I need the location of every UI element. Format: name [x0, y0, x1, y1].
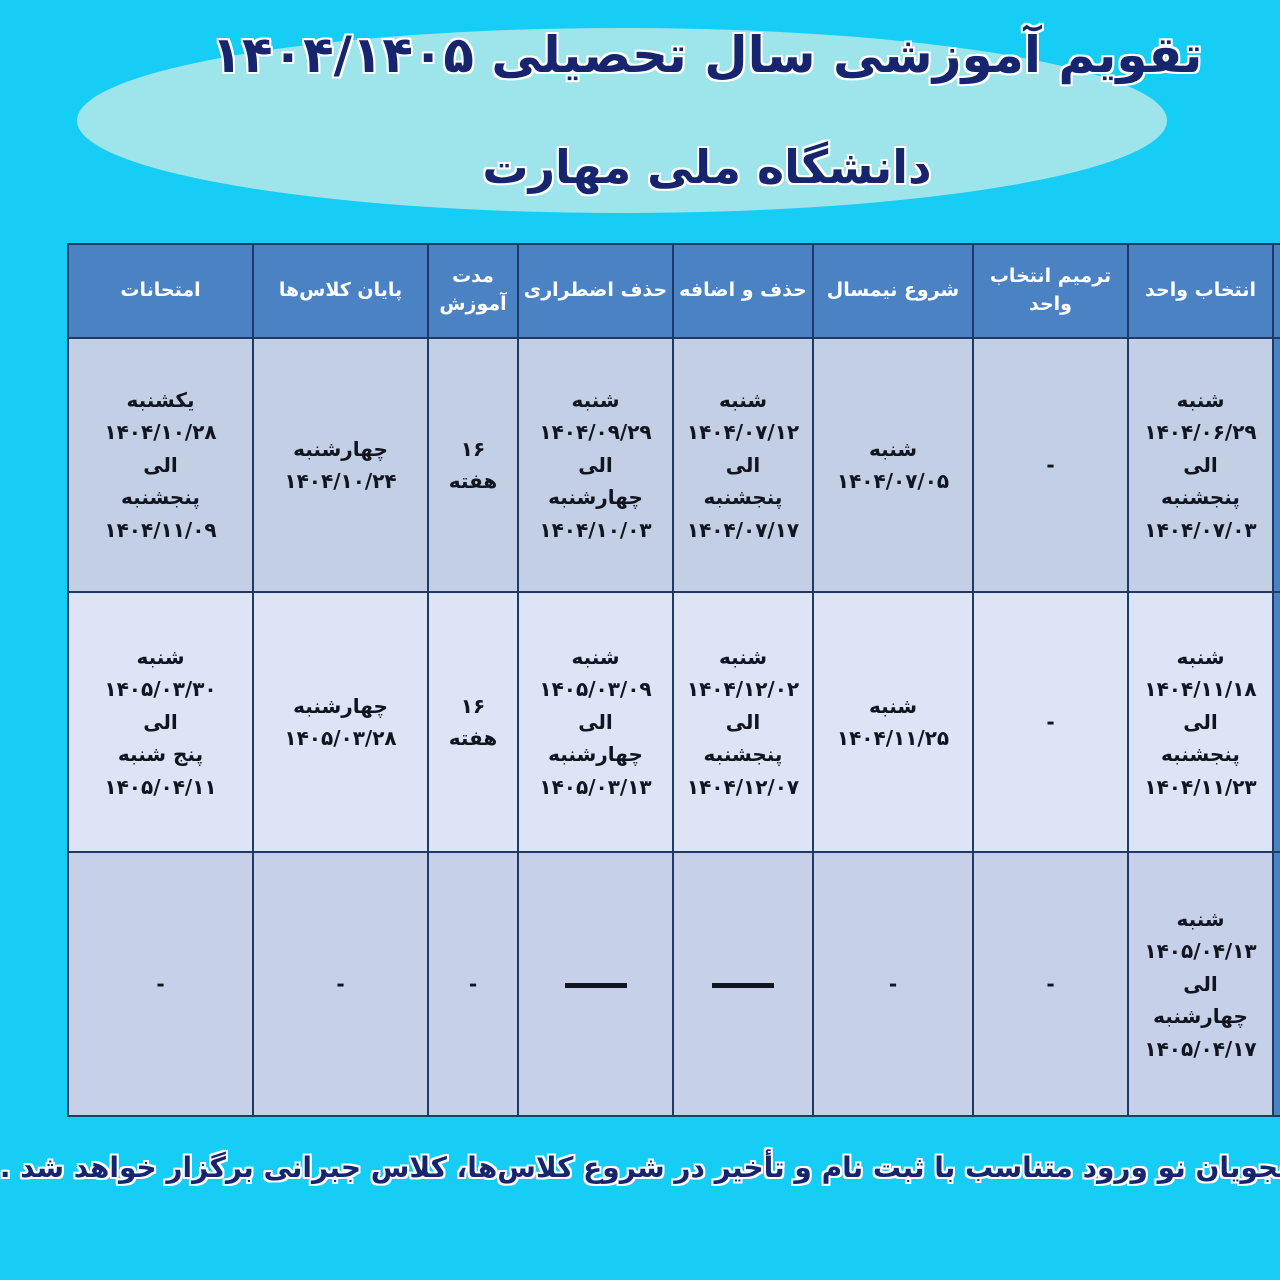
cell-line: [607, 968, 745, 1000]
cell-classes-end: -: [186, 852, 361, 1116]
cell-line: هفته: [362, 465, 450, 497]
cell-line: -: [187, 968, 360, 1000]
cell-line: چهارشنبه: [1062, 1000, 1205, 1032]
cell-line: ۱۴۰۵/۰۳/۱۳: [452, 771, 605, 803]
cell-emergency-drop: شنبه۱۴۰۵/۰۳/۰۹الیچهارشنبه۱۴۰۵/۰۳/۱۳: [451, 592, 606, 852]
cell-exams: شنبه۱۴۰۵/۰۳/۳۰الیپنج شنبه۱۴۰۵/۰۴/۱۱: [1, 592, 186, 852]
cell-line: شنبه: [452, 384, 605, 416]
cell-line: هفته: [362, 722, 450, 754]
cell-line: پنج شنبه: [2, 738, 185, 770]
cell-line: ۱۴۰۴/۰۷/۰۵: [747, 465, 905, 497]
cell-duration: -: [361, 852, 451, 1116]
term-label-cell: نیمسال دوم: [1206, 592, 1280, 852]
cell-line: پنجشنبه: [607, 481, 745, 513]
cell-line: چهارشنبه: [452, 738, 605, 770]
cell-course-repair: -: [906, 338, 1061, 592]
cell-line: -: [907, 968, 1060, 1000]
column-header-emergency-drop: حذف اضطراری: [451, 244, 606, 338]
em-dash-placeholder: [645, 983, 707, 988]
cell-line: پنجشنبه: [2, 481, 185, 513]
cell-line: ۱۴۰۴/۱۱/۲۳: [1062, 771, 1205, 803]
cell-course-repair: -: [906, 852, 1061, 1116]
cell-duration: ۱۶هفته: [361, 592, 451, 852]
cell-exams: یکشنبه۱۴۰۴/۱۰/۲۸الیپنجشنبه۱۴۰۴/۱۱/۰۹: [1, 338, 186, 592]
cell-line: ۱۴۰۴/۰۶/۲۹: [1062, 416, 1205, 448]
cell-line: شنبه: [607, 384, 745, 416]
cell-duration: ۱۶هفته: [361, 338, 451, 592]
cell-emergency-drop: [451, 852, 606, 1116]
cell-line: [452, 968, 605, 1000]
page-title-line-1: تقویم آموزشی سال تحصیلی ۱۴۰۴/۱۴۰۵: [0, 26, 1280, 84]
cell-line: ۱۴۰۴/۰۷/۰۳: [1062, 514, 1205, 546]
university-diamond-logo-icon: [1232, 279, 1256, 303]
cell-line: ۱۴۰۴/۰۹/۲۹: [452, 416, 605, 448]
cell-line: ۱۴۰۵/۰۳/۲۸: [187, 722, 360, 754]
cell-line: -: [747, 968, 905, 1000]
term-label-cell: تابستان: [1206, 852, 1280, 1116]
cell-line: شنبه: [747, 690, 905, 722]
cell-line: ۱۴۰۵/۰۴/۱۱: [2, 771, 185, 803]
table-header-row: انتخاب واحد ترمیم انتخاب واحد شروع نیمسا…: [1, 244, 1280, 338]
cell-course-select: شنبه۱۴۰۵/۰۴/۱۳الیچهارشنبه۱۴۰۵/۰۴/۱۷: [1061, 852, 1206, 1116]
column-header-term-start: شروع نیمسال: [746, 244, 906, 338]
cell-line: شنبه: [747, 433, 905, 465]
cell-line: شنبه: [1062, 384, 1205, 416]
cell-line: شنبه: [607, 641, 745, 673]
cell-line: الی: [607, 449, 745, 481]
cell-line: ۱۶: [362, 690, 450, 722]
term-label-text: تابستان: [1233, 947, 1254, 1015]
cell-course-select: شنبه۱۴۰۴/۱۱/۱۸الیپنجشنبه۱۴۰۴/۱۱/۲۳: [1061, 592, 1206, 852]
cell-line: ۱۴۰۴/۰۷/۱۲: [607, 416, 745, 448]
cell-line: الی: [2, 706, 185, 738]
cell-line: -: [907, 449, 1060, 481]
cell-term-start: شنبه۱۴۰۴/۰۷/۰۵: [746, 338, 906, 592]
table-row: نیمسال اول شنبه۱۴۰۴/۰۶/۲۹الیپنجشنبه۱۴۰۴/…: [1, 338, 1280, 592]
cell-line: ۱۴۰۴/۱۲/۰۷: [607, 771, 745, 803]
academic-calendar-table: انتخاب واحد ترمیم انتخاب واحد شروع نیمسا…: [0, 243, 1280, 1117]
cell-line: ۱۴۰۴/۰۷/۱۷: [607, 514, 745, 546]
cell-term-start: -: [746, 852, 906, 1116]
cell-line: شنبه: [452, 641, 605, 673]
cell-line: ۱۴۰۴/۱۰/۲۸: [2, 416, 185, 448]
cell-course-select: شنبه۱۴۰۴/۰۶/۲۹الیپنجشنبه۱۴۰۴/۰۷/۰۳: [1061, 338, 1206, 592]
cell-emergency-drop: شنبه۱۴۰۴/۰۹/۲۹الیچهارشنبه۱۴۰۴/۱۰/۰۳: [451, 338, 606, 592]
column-header-course-repair: ترمیم انتخاب واحد: [906, 244, 1061, 338]
cell-line: ۱۴۰۴/۱۰/۰۳: [452, 514, 605, 546]
cell-course-repair: -: [906, 592, 1061, 852]
cell-line: الی: [452, 706, 605, 738]
header-banner: تقویم آموزشی سال تحصیلی ۱۴۰۴/۱۴۰۵ دانشگا…: [0, 0, 1280, 240]
table-row: تابستان شنبه۱۴۰۵/۰۴/۱۳الیچهارشنبه۱۴۰۵/۰۴…: [1, 852, 1280, 1116]
cell-line: الی: [1062, 968, 1205, 1000]
column-header-add-drop: حذف و اضافه: [606, 244, 746, 338]
cell-line: ۱۴۰۵/۰۴/۱۳: [1062, 935, 1205, 967]
cell-line: شنبه: [2, 641, 185, 673]
cell-line: چهارشنبه: [187, 433, 360, 465]
term-label-cell: نیمسال اول: [1206, 338, 1280, 592]
cell-line: شنبه: [1062, 641, 1205, 673]
cell-line: -: [2, 968, 185, 1000]
footer-note-text: برای دانشجویان نو ورود متناسب با ثبت نام…: [0, 1151, 1280, 1184]
cell-line: -: [907, 706, 1060, 738]
cell-line: ۱۴۰۴/۱۰/۲۴: [187, 465, 360, 497]
cell-line: ۱۴۰۴/۱۱/۰۹: [2, 514, 185, 546]
cell-line: یکشنبه: [2, 384, 185, 416]
table-row: نیمسال دوم شنبه۱۴۰۴/۱۱/۱۸الیپنجشنبه۱۴۰۴/…: [1, 592, 1280, 852]
cell-line: الی: [1062, 706, 1205, 738]
column-header-course-select: انتخاب واحد: [1061, 244, 1206, 338]
em-dash-placeholder: [498, 983, 560, 988]
cell-line: الی: [452, 449, 605, 481]
university-logo-cell: [1206, 244, 1280, 338]
cell-line: ۱۴۰۴/۱۱/۱۸: [1062, 673, 1205, 705]
cell-term-start: شنبه۱۴۰۴/۱۱/۲۵: [746, 592, 906, 852]
cell-line: -: [362, 968, 450, 1000]
cell-line: پنجشنبه: [607, 738, 745, 770]
term-label-text: نیمسال دوم: [1233, 666, 1254, 773]
logo-box: [1216, 273, 1272, 309]
cell-line: الی: [2, 449, 185, 481]
cell-classes-end: چهارشنبه۱۴۰۵/۰۳/۲۸: [186, 592, 361, 852]
cell-line: ۱۴۰۵/۰۳/۳۰: [2, 673, 185, 705]
cell-line: ۱۴۰۴/۱۲/۰۲: [607, 673, 745, 705]
cell-line: پنجشنبه: [1062, 481, 1205, 513]
cell-line: ۱۴۰۵/۰۳/۰۹: [452, 673, 605, 705]
cell-add-drop: شنبه۱۴۰۴/۱۲/۰۲الیپنجشنبه۱۴۰۴/۱۲/۰۷: [606, 592, 746, 852]
cell-line: شنبه: [1062, 903, 1205, 935]
column-header-exams: امتحانات: [1, 244, 186, 338]
cell-exams: -: [1, 852, 186, 1116]
cell-add-drop: [606, 852, 746, 1116]
cell-line: الی: [1062, 449, 1205, 481]
column-header-classes-end: پایان کلاس‌ها: [186, 244, 361, 338]
term-label-text: نیمسال اول: [1233, 409, 1254, 515]
cell-line: الی: [607, 706, 745, 738]
cell-line: ۱۴۰۴/۱۱/۲۵: [747, 722, 905, 754]
page-title-line-2: دانشگاه ملی مهارت: [0, 140, 1280, 194]
cell-line: ۱۶: [362, 433, 450, 465]
table-body: نیمسال اول شنبه۱۴۰۴/۰۶/۲۹الیپنجشنبه۱۴۰۴/…: [1, 338, 1280, 1116]
cell-line: ۱۴۰۵/۰۴/۱۷: [1062, 1033, 1205, 1065]
cell-line: چهارشنبه: [187, 690, 360, 722]
column-header-duration: مدت آموزش: [361, 244, 451, 338]
cell-line: پنجشنبه: [1062, 738, 1205, 770]
footer-note-banner: برای دانشجویان نو ورود متناسب با ثبت نام…: [0, 1117, 1280, 1280]
cell-add-drop: شنبه۱۴۰۴/۰۷/۱۲الیپنجشنبه۱۴۰۴/۰۷/۱۷: [606, 338, 746, 592]
cell-line: چهارشنبه: [452, 481, 605, 513]
cell-classes-end: چهارشنبه۱۴۰۴/۱۰/۲۴: [186, 338, 361, 592]
